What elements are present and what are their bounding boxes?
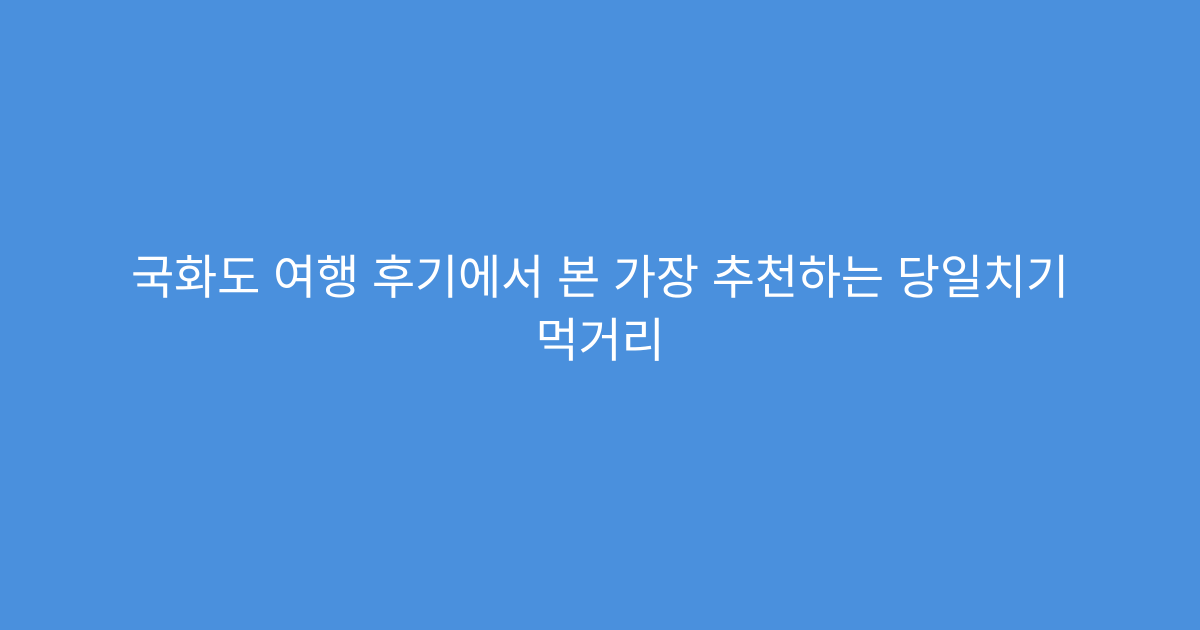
page-title: 국화도 여행 후기에서 본 가장 추천하는 당일치기 먹거리 [80, 246, 1120, 372]
share-card-content: 국화도 여행 후기에서 본 가장 추천하는 당일치기 먹거리 [80, 246, 1120, 372]
share-card: 국화도 여행 후기에서 본 가장 추천하는 당일치기 먹거리 [0, 0, 1200, 630]
